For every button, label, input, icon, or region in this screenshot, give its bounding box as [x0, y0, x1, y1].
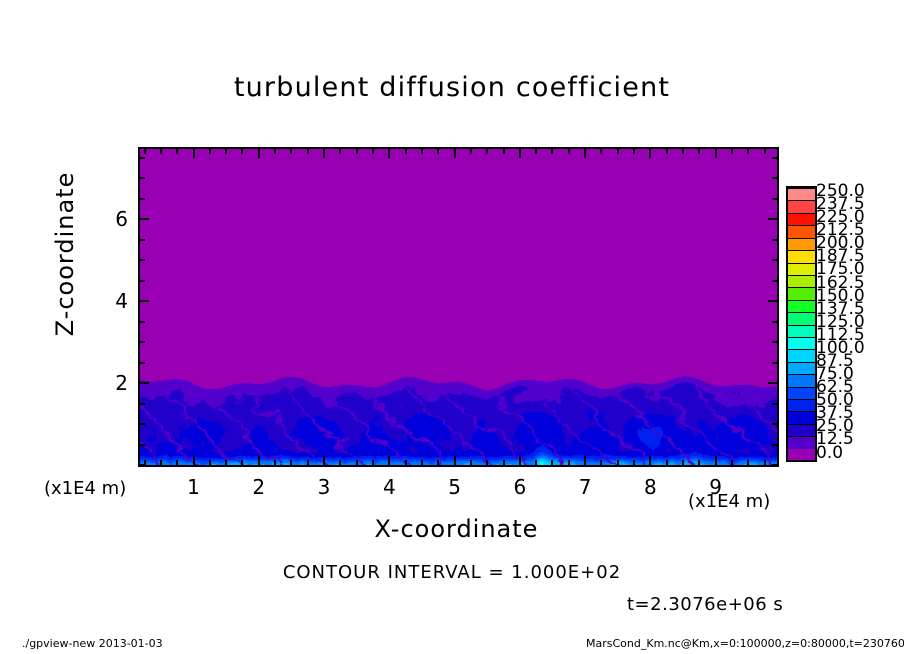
colorbar-band [788, 374, 815, 386]
colorbar-band [788, 411, 815, 423]
y-tick-label: 2 [88, 371, 128, 395]
colorbar-band [788, 275, 815, 287]
colorbar-band [788, 300, 815, 312]
y-tick-label: 4 [88, 289, 128, 313]
plot-area [138, 147, 779, 467]
time-annotation-label: t=2.3076e+06 s [627, 594, 783, 615]
x-tick-label: 4 [369, 475, 409, 499]
colorbar-band [788, 349, 815, 361]
colorbar-band [788, 325, 815, 337]
page-title: turbulent diffusion coefficient [0, 72, 904, 103]
colorbar-band [788, 337, 815, 349]
colorbar [786, 186, 817, 462]
x-tick-label: 6 [500, 475, 540, 499]
x-tick-label: 2 [239, 475, 279, 499]
colorbar-band [788, 424, 815, 436]
colorbar-band [788, 200, 815, 212]
colorbar-band [788, 263, 815, 275]
colorbar-band [788, 213, 815, 225]
contour-interval-label: CONTOUR INTERVAL = 1.000E+02 [0, 562, 904, 583]
colorbar-band [788, 238, 815, 250]
x-axis-title: X-coordinate [138, 515, 775, 543]
y-tick-label: 6 [88, 207, 128, 231]
colorbar-band [788, 436, 815, 448]
colorbar-band [788, 449, 815, 460]
x-tick-label: 5 [435, 475, 475, 499]
colorbar-band [788, 188, 815, 200]
x-tick-label: 3 [304, 475, 344, 499]
colorbar-band [788, 312, 815, 324]
heatmap-canvas [140, 149, 777, 465]
footer-source-label: MarsCond_Km.nc@Km,x=0:100000,z=0:80000,t… [586, 637, 904, 650]
colorbar-band [788, 250, 815, 262]
colorbar-band [788, 399, 815, 411]
x-tick-label: 1 [174, 475, 214, 499]
x-unit-right-label: (x1E4 m) [688, 491, 770, 512]
x-unit-left-label: (x1E4 m) [44, 478, 126, 499]
colorbar-band [788, 387, 815, 399]
colorbar-band [788, 362, 815, 374]
colorbar-band [788, 225, 815, 237]
colorbar-tick-labels: 250.0237.5225.0212.5200.0187.5175.0162.5… [816, 178, 886, 468]
x-tick-label: 8 [630, 475, 670, 499]
x-tick-label: 7 [565, 475, 605, 499]
colorbar-band [788, 287, 815, 299]
y-axis-title: Z-coordinate [51, 164, 79, 344]
footer-command-label: ./gpview-new 2013-01-03 [22, 637, 163, 650]
colorbar-tick-label: 0.0 [816, 445, 843, 462]
